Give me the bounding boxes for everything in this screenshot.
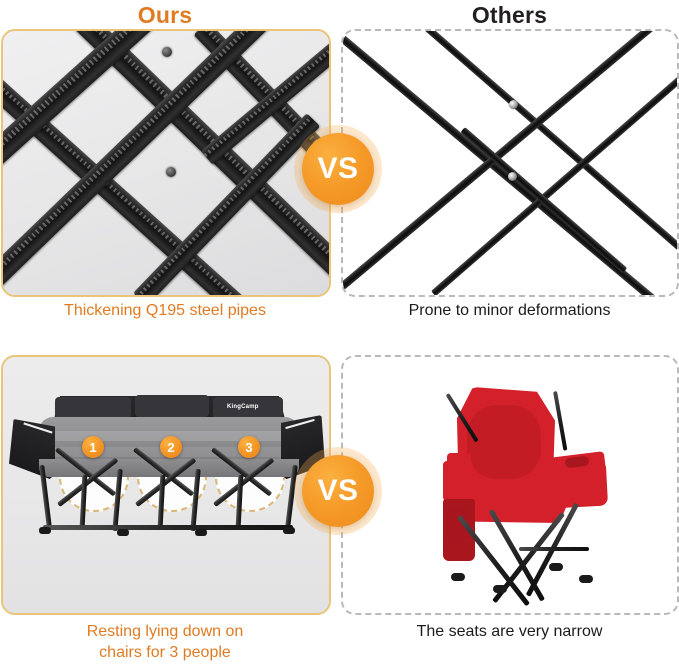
- pipe-rivet-icon: [508, 172, 517, 181]
- comparison-infographic: Ours Others Thickening Q195 steel pipes: [0, 0, 679, 666]
- red-folding-chair-photo: [343, 357, 677, 613]
- three-seat-bench-photo: KingCamp: [3, 357, 329, 613]
- caption-ours-three-seat-bench: Resting lying down on chairs for 3 peopl…: [0, 621, 330, 663]
- chair-foot: [549, 563, 563, 571]
- bench-foot: [117, 529, 129, 536]
- chair-foot: [579, 575, 593, 583]
- seat-number-badge-1: 1: [82, 436, 104, 458]
- panel-ours-three-seat-bench: KingCamp: [1, 355, 331, 615]
- brand-logo-kingcamp: KingCamp: [227, 404, 259, 410]
- caption-line-1: Resting lying down on: [0, 621, 330, 642]
- thin-steel-pipes-photo: [343, 31, 677, 295]
- pipe-rivet-icon: [162, 47, 172, 57]
- chair-foot: [451, 573, 465, 581]
- caption-line-2: chairs for 3 people: [0, 642, 330, 663]
- vs-badge-top: VS: [302, 133, 374, 205]
- bench-foot: [283, 527, 295, 534]
- column-header-others: Others: [340, 0, 679, 30]
- pipe-rivet-icon: [509, 100, 518, 109]
- caption-others-steel-pipes: Prone to minor deformations: [340, 300, 679, 321]
- seat-number-badge-2: 2: [160, 436, 182, 458]
- seat-number-badge-3: 3: [238, 436, 260, 458]
- bench-foot: [39, 527, 51, 534]
- panel-ours-steel-pipes: [1, 29, 331, 297]
- panel-others-steel-pipes: [341, 29, 679, 297]
- column-header-ours: Ours: [0, 0, 330, 30]
- caption-ours-steel-pipes: Thickening Q195 steel pipes: [0, 300, 330, 321]
- panel-others-narrow-chair: [341, 355, 679, 615]
- thick-steel-pipes-photo: [3, 31, 329, 295]
- bench-foot: [195, 529, 207, 536]
- vs-badge-bottom: VS: [302, 455, 374, 527]
- pipe-rivet-icon: [166, 167, 176, 177]
- caption-others-narrow-chair: The seats are very narrow: [340, 621, 679, 642]
- chair-foot: [493, 585, 507, 593]
